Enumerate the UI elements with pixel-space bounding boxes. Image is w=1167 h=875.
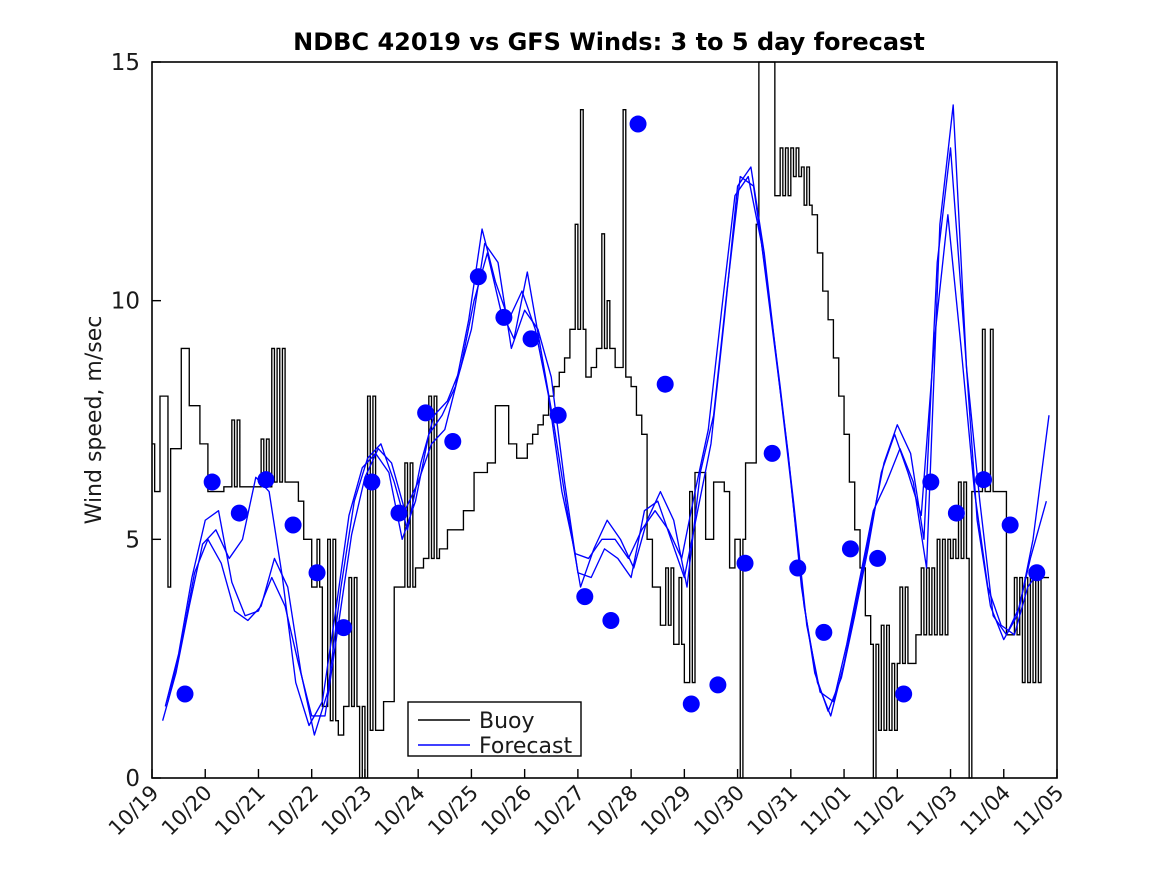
daily-mean-marker [789, 559, 806, 576]
daily-mean-marker [895, 685, 912, 702]
daily-mean-marker [737, 555, 754, 572]
daily-mean-marker [1028, 564, 1045, 581]
y-axis-label: Wind speed, m/sec [82, 316, 107, 525]
daily-mean-marker [764, 445, 781, 462]
chart-title: NDBC 42019 vs GFS Winds: 3 to 5 day fore… [293, 28, 925, 56]
daily-mean-marker [363, 474, 380, 491]
daily-mean-marker [683, 696, 700, 713]
daily-mean-marker [335, 619, 352, 636]
daily-mean-marker [550, 407, 567, 424]
daily-mean-marker [285, 517, 302, 534]
daily-mean-marker [815, 624, 832, 641]
daily-mean-marker [257, 471, 274, 488]
daily-mean-marker [495, 309, 512, 326]
daily-mean-marker [709, 676, 726, 693]
daily-mean-marker [869, 550, 886, 567]
daily-mean-marker [975, 471, 992, 488]
figure-root: NDBC 42019 vs GFS Winds: 3 to 5 day fore… [0, 0, 1167, 875]
legend-label-forecast: Forecast [479, 734, 572, 759]
daily-mean-marker [602, 612, 619, 629]
y-tick-label: 10 [111, 289, 140, 315]
daily-mean-marker [177, 685, 194, 702]
daily-mean-marker [391, 505, 408, 522]
daily-mean-marker [204, 474, 221, 491]
daily-mean-marker [922, 474, 939, 491]
daily-mean-marker [1002, 517, 1019, 534]
daily-mean-marker [842, 540, 859, 557]
legend-label-buoy: Buoy [479, 709, 535, 734]
daily-mean-marker [231, 505, 248, 522]
daily-mean-marker [309, 564, 326, 581]
daily-mean-marker [576, 588, 593, 605]
daily-mean-marker [657, 376, 674, 393]
y-tick-label: 5 [125, 527, 140, 553]
wind-speed-chart: NDBC 42019 vs GFS Winds: 3 to 5 day fore… [0, 0, 1167, 875]
daily-mean-marker [948, 505, 965, 522]
daily-mean-marker [523, 330, 540, 347]
daily-mean-marker [630, 116, 647, 133]
legend[interactable]: Buoy Forecast [408, 702, 581, 759]
y-tick-label: 15 [111, 50, 140, 76]
daily-mean-marker [417, 404, 434, 421]
daily-mean-marker [444, 433, 461, 450]
daily-mean-marker [470, 268, 487, 285]
